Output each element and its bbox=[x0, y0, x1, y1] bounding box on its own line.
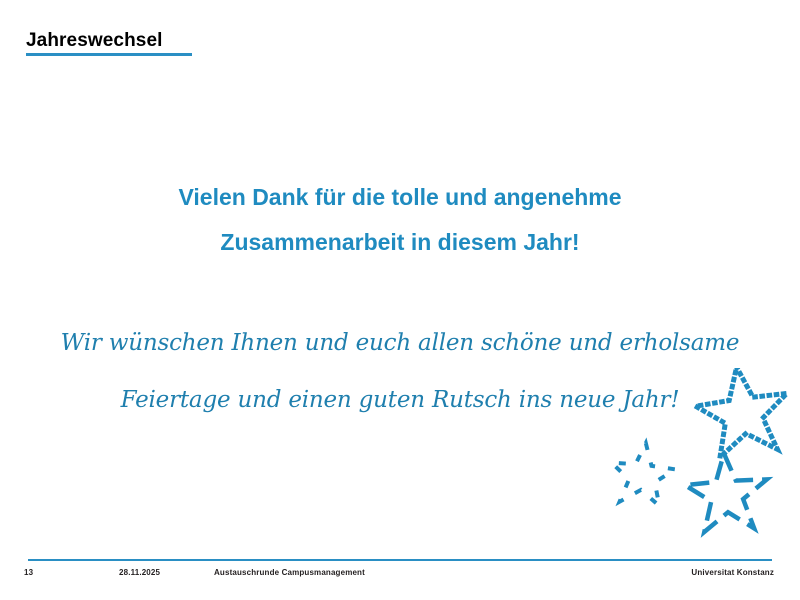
thank-you-line-2: Zusammenarbeit in diesem Jahr! bbox=[0, 231, 800, 254]
star-dashed-medium-icon bbox=[683, 450, 770, 533]
footer-date: 28.11.2025 bbox=[119, 568, 160, 577]
slide-footer: 13 28.11.2025 Austauschrunde Campusmanag… bbox=[0, 568, 800, 582]
season-wishes: Wir wünschen Ihnen und euch allen schöne… bbox=[0, 332, 800, 412]
star-dashed-small-icon bbox=[608, 440, 678, 507]
wishes-line-2: Feiertage und einen guten Rutsch ins neu… bbox=[0, 389, 800, 412]
slide-canvas: Jahreswechsel Vielen Dank für die tolle … bbox=[0, 0, 800, 600]
wishes-line-1: Wir wünschen Ihnen und euch allen schöne… bbox=[0, 332, 800, 355]
thank-you-message: Vielen Dank für die tolle und angenehme … bbox=[0, 186, 800, 254]
footer-organization: Universitat Konstanz bbox=[691, 568, 774, 577]
footer-page-number: 13 bbox=[24, 568, 33, 577]
footer-event-name: Austauschrunde Campusmanagement bbox=[214, 568, 365, 577]
thank-you-line-1: Vielen Dank für die tolle und angenehme bbox=[0, 186, 800, 209]
page-title: Jahreswechsel bbox=[26, 30, 192, 52]
slide-title-block: Jahreswechsel bbox=[26, 30, 192, 56]
footer-divider bbox=[28, 559, 772, 561]
title-underline-rule bbox=[26, 53, 192, 56]
